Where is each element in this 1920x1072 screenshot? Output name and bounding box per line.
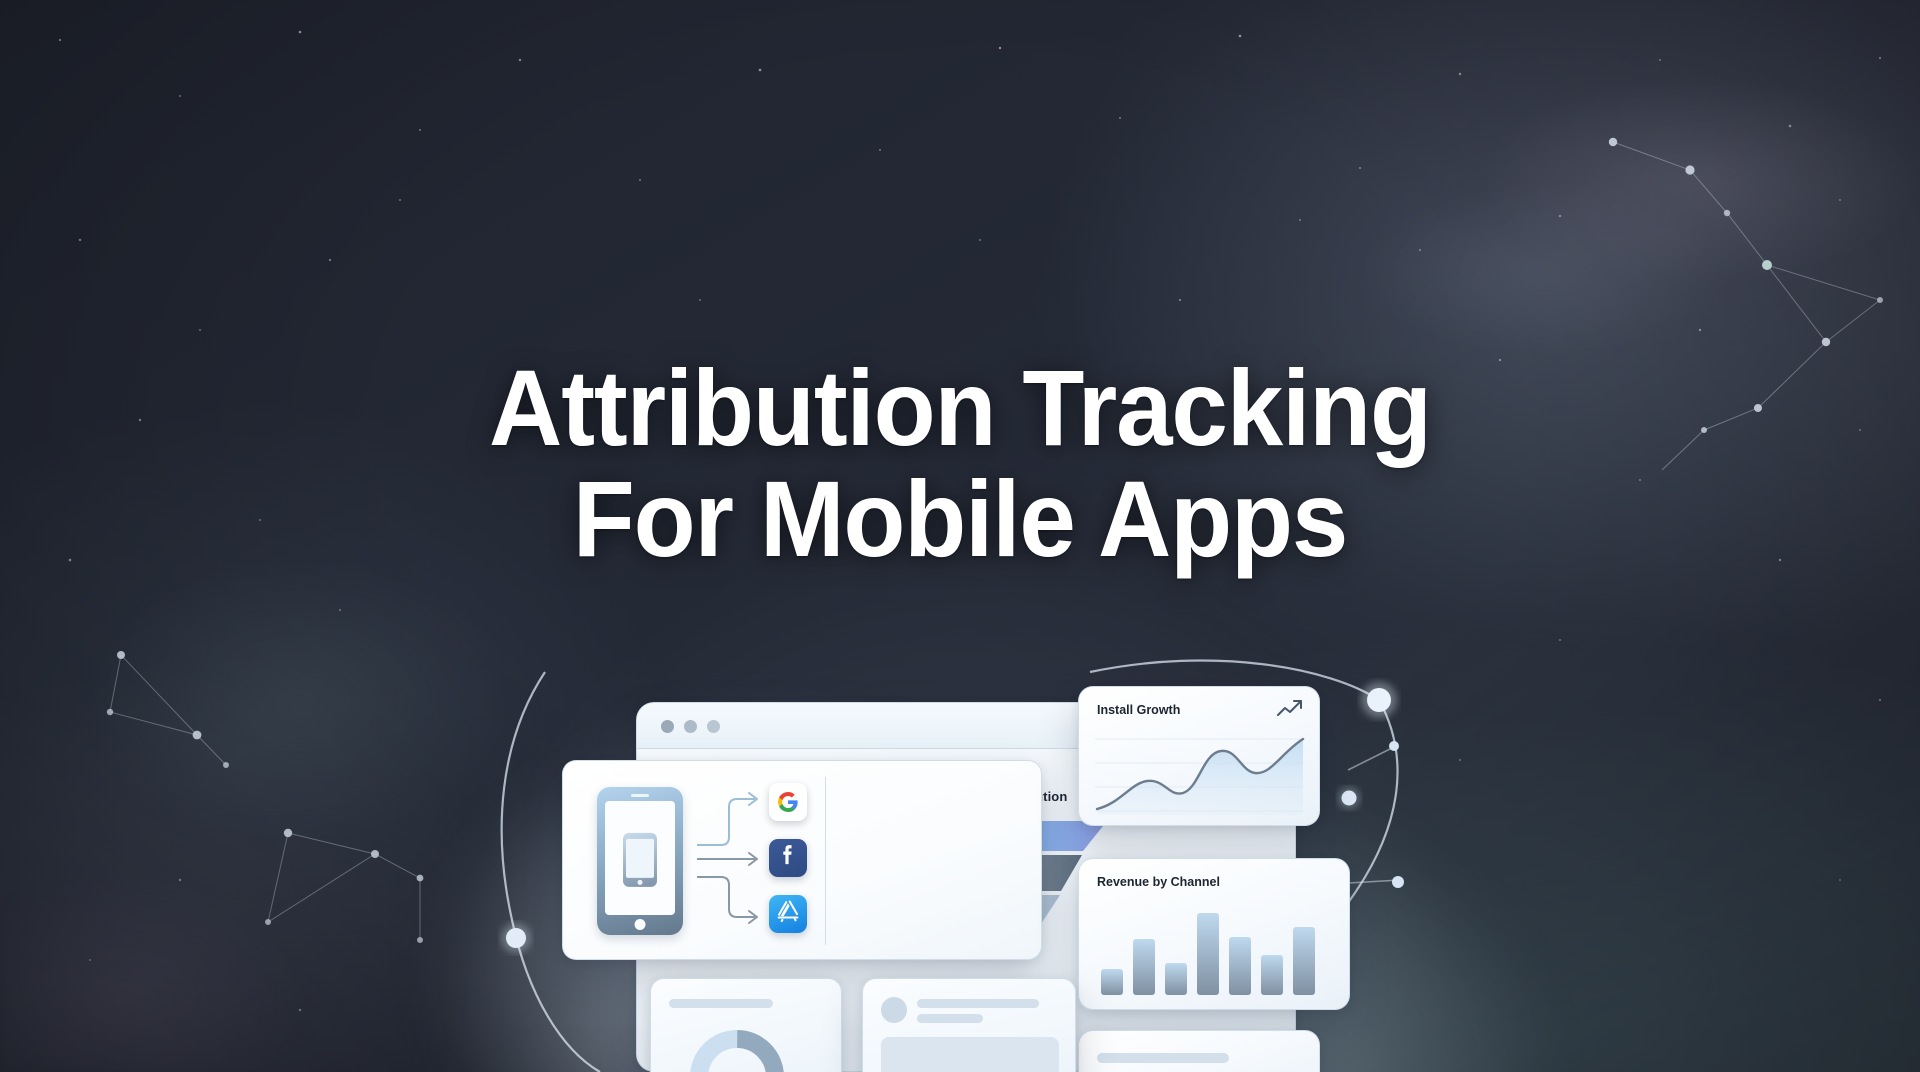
google-glyph — [769, 783, 807, 821]
minimize-icon[interactable] — [684, 720, 697, 733]
install-growth-card[interactable]: Install Growth — [1078, 686, 1320, 826]
inner-phone-icon — [623, 833, 657, 887]
install-growth-chart — [1095, 731, 1305, 815]
phone-home-button — [635, 919, 646, 930]
revenue-by-channel-title: Revenue by Channel — [1097, 875, 1220, 889]
app-store-icon[interactable] — [769, 895, 807, 933]
secondary-stat-card[interactable] — [1078, 1030, 1320, 1072]
inner-phone-screen — [626, 839, 654, 878]
attribution-panel[interactable] — [562, 760, 1042, 960]
revenue-bar-chart — [1097, 903, 1333, 995]
facebook-glyph — [769, 839, 807, 877]
placeholder-bar — [1097, 1053, 1229, 1063]
donut-chart — [681, 1021, 793, 1072]
donut-chart-card[interactable] — [650, 978, 842, 1072]
page-title: Attribution Tracking For Mobile Apps — [58, 352, 1863, 574]
revenue-by-channel-card[interactable]: Revenue by Channel — [1078, 858, 1350, 1010]
placeholder-title-bar — [669, 999, 773, 1008]
headline-line-2: For Mobile Apps — [58, 463, 1863, 574]
activity-list-card[interactable] — [862, 978, 1076, 1072]
placeholder-line-2 — [917, 1014, 983, 1023]
placeholder-block — [881, 1037, 1059, 1072]
placeholder-line-1 — [917, 999, 1039, 1008]
phone-speaker — [631, 794, 649, 797]
google-icon[interactable] — [769, 783, 807, 821]
headline-line-1: Attribution Tracking — [489, 347, 1431, 468]
hero-banner: Attribution Tracking For Mobile Apps — [0, 0, 1920, 1072]
avatar — [881, 997, 907, 1023]
install-growth-title: Install Growth — [1097, 703, 1180, 717]
trending-up-icon — [1277, 699, 1303, 717]
inner-phone-home — [638, 880, 643, 885]
facebook-icon[interactable] — [769, 839, 807, 877]
mobile-phone-icon — [597, 787, 683, 935]
panel-divider — [825, 777, 826, 945]
close-icon[interactable] — [661, 720, 674, 733]
maximize-icon[interactable] — [707, 720, 720, 733]
app-store-glyph — [769, 895, 807, 933]
attribution-arrows — [695, 781, 767, 941]
